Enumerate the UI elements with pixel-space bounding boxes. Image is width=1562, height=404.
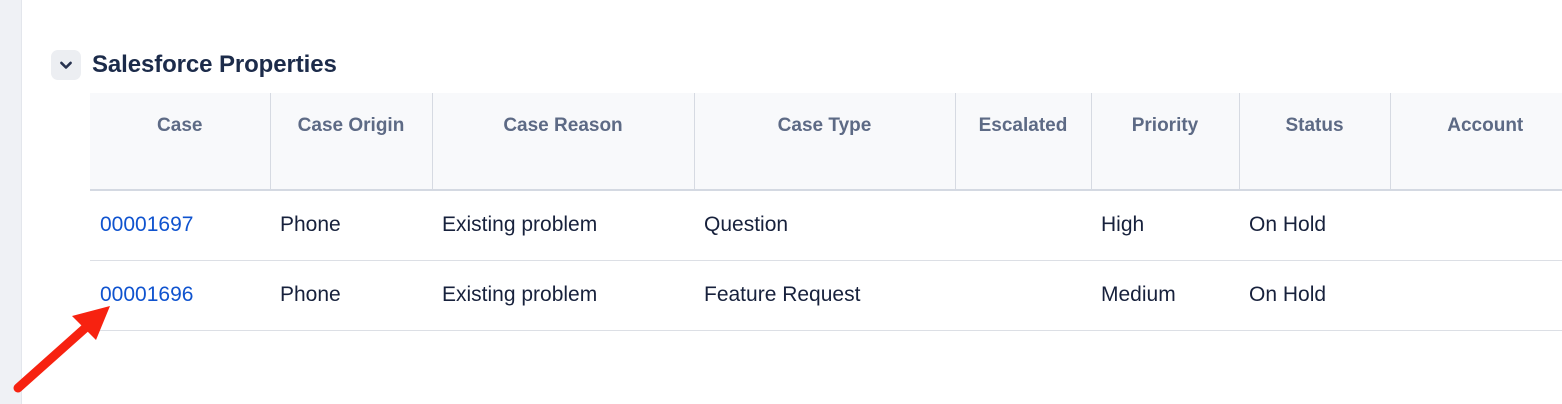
cell-case-origin: Phone: [270, 190, 432, 260]
table-header: Case Case Origin Case Reason Case Type E…: [90, 93, 1562, 190]
column-header-status[interactable]: Status: [1239, 93, 1390, 190]
case-link[interactable]: 00001696: [100, 283, 193, 306]
cell-escalated: [955, 260, 1091, 330]
case-link[interactable]: 00001697: [100, 213, 193, 236]
table-body: 00001697 Phone Existing problem Question…: [90, 190, 1562, 330]
salesforce-properties-table: Case Case Origin Case Reason Case Type E…: [90, 93, 1562, 331]
chevron-down-icon: [58, 57, 74, 73]
cell-case: 00001697: [90, 190, 270, 260]
left-rail-strip: [0, 0, 22, 404]
cell-priority: High: [1091, 190, 1239, 260]
table-row[interactable]: 00001696 Phone Existing problem Feature …: [90, 260, 1562, 330]
cell-account: [1390, 190, 1562, 260]
cell-case: 00001696: [90, 260, 270, 330]
table-row[interactable]: 00001697 Phone Existing problem Question…: [90, 190, 1562, 260]
column-header-account[interactable]: Account: [1390, 93, 1562, 190]
cell-case-origin: Phone: [270, 260, 432, 330]
cell-case-reason: Existing problem: [432, 260, 694, 330]
section-header: Salesforce Properties: [51, 50, 337, 80]
cell-case-reason: Existing problem: [432, 190, 694, 260]
cell-account: [1390, 260, 1562, 330]
column-header-case-reason[interactable]: Case Reason: [432, 93, 694, 190]
cell-priority: Medium: [1091, 260, 1239, 330]
table-header-row: Case Case Origin Case Reason Case Type E…: [90, 93, 1562, 190]
cell-case-type: Question: [694, 190, 955, 260]
section-title: Salesforce Properties: [92, 51, 337, 79]
column-header-case[interactable]: Case: [90, 93, 270, 190]
page-body: Salesforce Properties Case Case Origin C…: [23, 0, 1562, 404]
column-header-escalated[interactable]: Escalated: [955, 93, 1091, 190]
column-header-priority[interactable]: Priority: [1091, 93, 1239, 190]
cell-case-type: Feature Request: [694, 260, 955, 330]
column-header-case-origin[interactable]: Case Origin: [270, 93, 432, 190]
cell-escalated: [955, 190, 1091, 260]
cell-status: On Hold: [1239, 260, 1390, 330]
column-header-case-type[interactable]: Case Type: [694, 93, 955, 190]
collapse-toggle-button[interactable]: [51, 50, 81, 80]
cell-status: On Hold: [1239, 190, 1390, 260]
